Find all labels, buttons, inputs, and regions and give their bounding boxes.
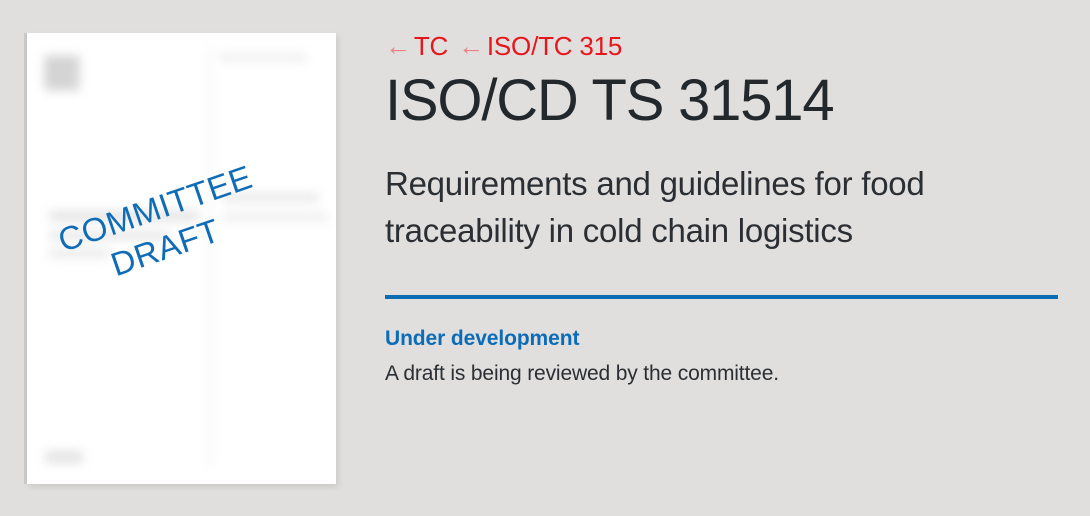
document-placeholder-content (27, 33, 336, 484)
document-text-placeholder-e (223, 213, 328, 221)
document-column-rule (208, 47, 211, 467)
status-badge: Under development (385, 327, 1059, 351)
back-arrow-icon-2: ← (458, 31, 487, 61)
document-footer-placeholder (45, 451, 83, 463)
breadcrumb-item-tc[interactable]: TC (414, 31, 458, 61)
back-arrow-icon: ← (385, 31, 414, 61)
breadcrumb: ←TC←ISO/TC 315 (385, 33, 1059, 60)
document-header-line-placeholder (219, 54, 307, 61)
document-text-placeholder-b (49, 231, 169, 240)
standard-number-heading: ISO/CD TS 31514 (385, 70, 1059, 133)
document-text-placeholder-d (223, 193, 319, 202)
document-cover-preview[interactable]: COMMITTEE DRAFT (27, 33, 336, 484)
standard-info-column: ←TC←ISO/TC 315 ISO/CD TS 31514 Requireme… (385, 33, 1059, 386)
breadcrumb-item-iso-tc-315[interactable]: ISO/TC 315 (487, 31, 632, 61)
standard-detail-page: COMMITTEE DRAFT ←TC←ISO/TC 315 ISO/CD TS… (0, 0, 1090, 516)
document-text-placeholder-a (49, 211, 199, 221)
status-description: A draft is being reviewed by the committ… (385, 362, 1059, 386)
document-logo-placeholder (44, 55, 80, 91)
section-divider (385, 295, 1058, 299)
document-text-placeholder-c (49, 249, 109, 258)
standard-title: Requirements and guidelines for food tra… (385, 161, 1010, 255)
